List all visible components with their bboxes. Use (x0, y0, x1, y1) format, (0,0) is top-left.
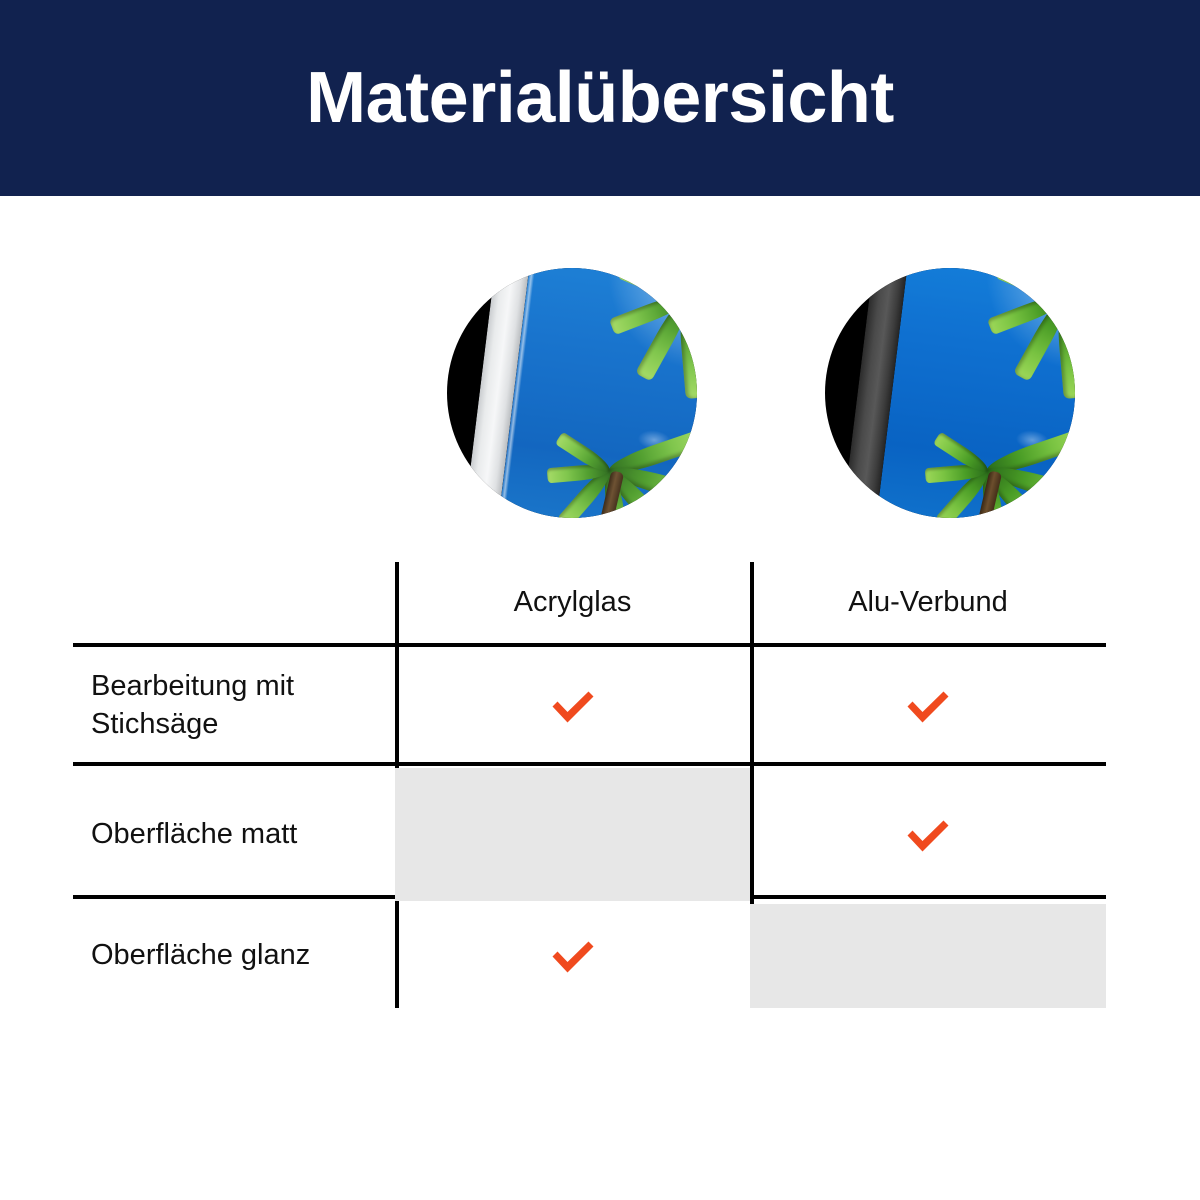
check-icon (548, 686, 598, 726)
row-label-oberflaeche-glanz: Oberfläche glanz (73, 904, 395, 1008)
table-row: Bearbeitung mit Stichsäge (73, 646, 1106, 765)
cell-glanz-alu-verbund (750, 904, 1106, 1008)
table-row: Oberfläche matt (73, 768, 1106, 901)
cell-matt-alu-verbund (750, 768, 1106, 901)
check-icon (548, 936, 598, 976)
material-overview-infographic: Materialübersicht (0, 0, 1200, 1200)
cell-bearbeitung-alu-verbund (750, 646, 1106, 765)
page-title: Materialübersicht (306, 62, 894, 134)
header-banner: Materialübersicht (0, 0, 1200, 196)
row-label-bearbeitung-stichsaege: Bearbeitung mit Stichsäge (73, 646, 395, 765)
cell-matt-acrylglas (395, 768, 750, 901)
acrylglas-scene (447, 268, 697, 518)
alu-verbund-panel (836, 268, 1075, 518)
cell-glanz-acrylglas (395, 904, 750, 1008)
table-header-row: Acrylglas Alu-Verbund (73, 562, 1106, 643)
table-header-corner (73, 562, 395, 643)
material-comparison-table: Acrylglas Alu-Verbund Bearbeitung mit St… (73, 562, 1106, 1008)
check-icon (903, 815, 953, 855)
cell-bearbeitung-acrylglas (395, 646, 750, 765)
table-header-alu-verbund: Alu-Verbund (750, 562, 1106, 643)
acrylglas-thumbnail (447, 268, 697, 518)
table-header-acrylglas: Acrylglas (395, 562, 750, 643)
thumbnail-row (0, 268, 1200, 524)
alu-verbund-thumbnail (825, 268, 1075, 518)
alu-verbund-scene (825, 268, 1075, 518)
acrylglas-panel (458, 268, 697, 518)
row-label-oberflaeche-matt: Oberfläche matt (73, 768, 395, 901)
table-row: Oberfläche glanz (73, 904, 1106, 1008)
check-icon (903, 686, 953, 726)
